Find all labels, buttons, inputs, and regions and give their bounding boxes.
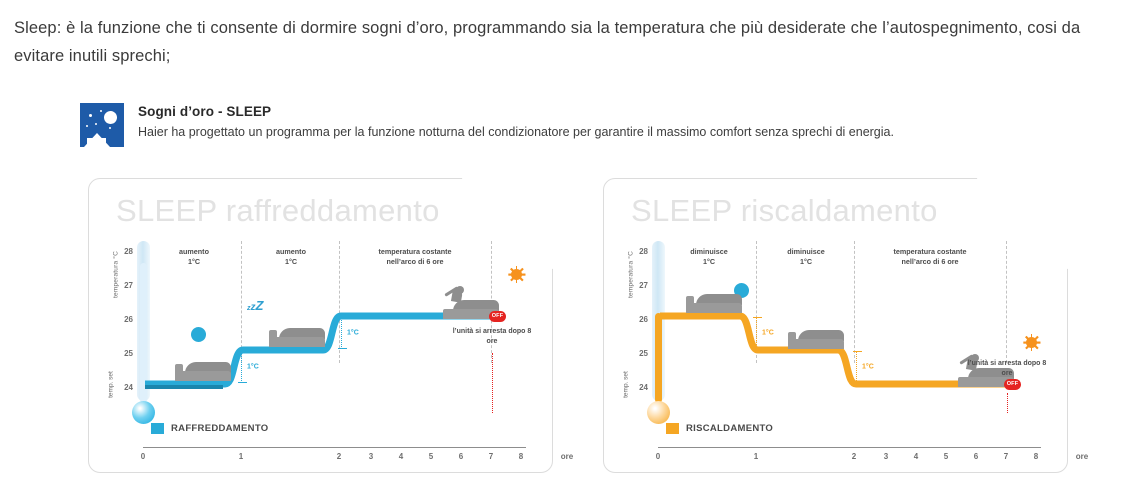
legend-heating: RISCALDAMENTO <box>666 423 773 434</box>
y-tick-26: 26 <box>117 315 133 324</box>
sleep-header: Sogni d’oro - SLEEP Haier ha progettato … <box>80 103 1135 147</box>
plot-area-cooling: aumento 1°C aumento 1°C temperatura cost… <box>143 241 535 419</box>
measure-1c-first: 1°C <box>241 351 242 383</box>
y-tick-27: 27 <box>632 281 648 290</box>
sun-icon <box>511 269 522 280</box>
measure-cap-top <box>753 317 762 318</box>
bed-mattress <box>788 339 844 349</box>
measure-cap-bottom <box>238 382 247 383</box>
measure-cap-bottom <box>853 382 862 383</box>
sleep-title: Sogni d’oro - SLEEP <box>138 104 1143 119</box>
star-icon <box>100 110 102 112</box>
x-tick-6: 6 <box>974 452 978 461</box>
night-sky-house-icon <box>80 103 124 147</box>
x-tick-5: 5 <box>944 452 948 461</box>
measure-cap-bottom <box>753 348 762 349</box>
y-axis-title-secondary: temp. set <box>108 355 115 415</box>
x-tick-3: 3 <box>369 452 373 461</box>
x-tick-0: 0 <box>141 452 145 461</box>
house-body-icon <box>87 138 106 147</box>
star-icon <box>109 127 111 129</box>
legend-cooling: RAFFREDDAMENTO <box>151 423 268 434</box>
measure-1c-second: 1°C <box>341 317 342 349</box>
y-tick-28: 28 <box>117 247 133 256</box>
star-icon <box>95 123 97 125</box>
stop-note: l’unità si arresta dopo 8 ore <box>962 359 1052 378</box>
legend-label: RAFFREDDAMENTO <box>171 423 268 434</box>
bed-mattress <box>269 337 325 347</box>
panel-cooling: SLEEP raffreddamento temperatura °C temp… <box>88 178 553 473</box>
panel-heating: SLEEP riscaldamento temperatura °C temp.… <box>603 178 1068 473</box>
x-axis-heating: 0 1 2 3 4 5 6 7 8 ore <box>658 447 1041 448</box>
legend-swatch <box>151 423 164 434</box>
stop-note: l’unità si arresta dopo 8 ore <box>447 327 537 346</box>
x-tick-2: 2 <box>337 452 341 461</box>
x-tick-8: 8 <box>519 452 523 461</box>
moon-icon <box>102 109 118 125</box>
x-tick-2: 2 <box>852 452 856 461</box>
panel-title-cooling: SLEEP raffreddamento <box>116 193 440 229</box>
off-badge: OFF <box>489 311 506 322</box>
x-tick-1: 1 <box>754 452 758 461</box>
x-tick-6: 6 <box>459 452 463 461</box>
plot-area-heating: diminuisce 1°C diminuisce 1°C temperatur… <box>658 241 1050 419</box>
measure-cap-top <box>338 317 347 318</box>
x-axis-unit: ore <box>1076 452 1088 461</box>
y-tick-28: 28 <box>632 247 648 256</box>
x-tick-4: 4 <box>914 452 918 461</box>
heating-curve <box>658 241 1050 419</box>
y-tick-27: 27 <box>117 281 133 290</box>
y-tick-25: 25 <box>117 349 133 358</box>
sleep-zzz-icon: zzZ <box>247 297 263 315</box>
x-axis-unit: ore <box>561 452 573 461</box>
x-tick-3: 3 <box>884 452 888 461</box>
legend-label: RISCALDAMENTO <box>686 423 773 434</box>
bed-sleeping-icon <box>686 293 742 313</box>
measure-cap-top <box>238 351 247 352</box>
bed-sleeping-icon <box>788 329 844 349</box>
y-axis-title-secondary: temp. set <box>623 355 630 415</box>
star-icon <box>89 114 92 117</box>
measure-1c-first: 1°C <box>756 317 757 349</box>
legend-swatch <box>666 423 679 434</box>
star-icon <box>86 125 88 127</box>
y-tick-25: 25 <box>632 349 648 358</box>
y-tick-24: 24 <box>117 383 133 392</box>
bed-sleeping-icon <box>175 361 231 381</box>
sleep-subtitle: Haier ha progettato un programma per la … <box>138 123 1143 141</box>
intro-paragraph: Sleep: è la funzione che ti consente di … <box>14 14 1134 70</box>
measure-cap-bottom <box>338 348 347 349</box>
y-tick-24: 24 <box>632 383 648 392</box>
measure-1c-second: 1°C <box>856 351 857 383</box>
sun-icon <box>1026 337 1037 348</box>
x-tick-7: 7 <box>489 452 493 461</box>
x-tick-8: 8 <box>1034 452 1038 461</box>
x-tick-5: 5 <box>429 452 433 461</box>
x-axis-cooling: 0 1 2 3 4 5 6 7 8 ore <box>143 447 526 448</box>
bed-sleeping-icon <box>269 327 325 347</box>
measure-cap-top <box>853 351 862 352</box>
y-tick-26: 26 <box>632 315 648 324</box>
x-tick-4: 4 <box>399 452 403 461</box>
x-tick-0: 0 <box>656 452 660 461</box>
shutdown-marker-line <box>492 353 493 413</box>
bed-mattress <box>175 371 231 381</box>
bed-mattress <box>686 303 742 313</box>
off-badge: OFF <box>1004 379 1021 390</box>
x-tick-1: 1 <box>239 452 243 461</box>
x-tick-7: 7 <box>1004 452 1008 461</box>
panel-title-heating: SLEEP riscaldamento <box>631 193 938 229</box>
person-head <box>456 286 464 294</box>
shutdown-marker-line <box>1007 393 1008 413</box>
